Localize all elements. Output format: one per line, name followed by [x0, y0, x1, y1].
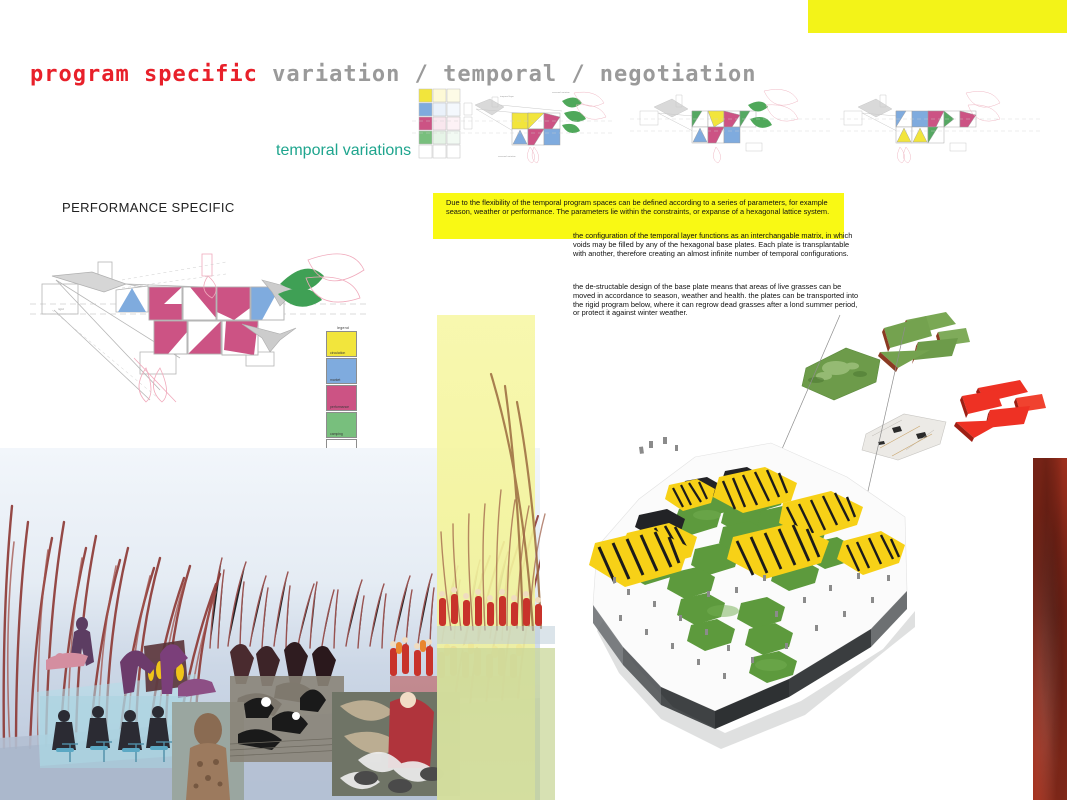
- legend-label-performance: performance: [330, 405, 349, 409]
- photo-tile-breakdancers: [230, 676, 344, 762]
- legend-swatch-market: market: [326, 358, 357, 384]
- presentation-board: program specific variation / temporal / …: [0, 0, 1067, 800]
- title-grey-part: variation / temporal / negotiation: [272, 62, 756, 87]
- configuration-paragraph-text: the configuration of the temporal layer …: [573, 232, 863, 258]
- grass-hex-plate: [802, 348, 880, 400]
- temporal-variation-diagram-2: [630, 85, 830, 165]
- performance-specific-label: PERFORMANCE SPECIFIC: [62, 200, 235, 215]
- grass-exploded-pieces: [878, 312, 970, 372]
- legend-label-circulation: circulation: [330, 351, 345, 355]
- legend-swatch-camping: camping: [326, 412, 357, 438]
- svg-text:temporal layer: temporal layer: [500, 95, 514, 98]
- parameters-callout-text: Due to the flexibility of the temporal p…: [433, 193, 844, 216]
- reed-overlay: [437, 330, 547, 630]
- legend-swatch-circulation: circulation: [326, 331, 357, 357]
- svg-text:seasonal variation: seasonal variation: [552, 91, 570, 94]
- crowd-overlay: [437, 586, 555, 646]
- top-yellow-bar: [808, 0, 1067, 33]
- legend-label-market: market: [330, 378, 340, 382]
- green-overlay-wash: [437, 648, 555, 800]
- temporal-variation-diagram-3: [840, 85, 1040, 165]
- configuration-paragraph: the configuration of the temporal layer …: [573, 232, 863, 258]
- page-title: program specific variation / temporal / …: [30, 62, 757, 87]
- legend: legend circulation market performance ca…: [326, 326, 360, 465]
- legend-label-camping: camping: [330, 432, 343, 436]
- photo-tile-musicians: [40, 696, 186, 768]
- title-red-part: program specific: [30, 62, 258, 87]
- temporal-variations-label: temporal variations: [276, 142, 411, 160]
- svg-text:rigid: rigid: [58, 307, 64, 311]
- svg-text:seasonal variation: seasonal variation: [498, 155, 516, 158]
- hexagonal-base-plate-field-axonometric: [575, 415, 975, 785]
- temporal-variation-diagram-1: temporal layer seasonal variation season…: [412, 85, 612, 165]
- legend-title: legend: [326, 326, 360, 330]
- brick-red-strip: [1033, 458, 1067, 800]
- legend-swatch-performance: performance: [326, 385, 357, 411]
- performance-specific-axonometric: rigid: [30, 240, 370, 405]
